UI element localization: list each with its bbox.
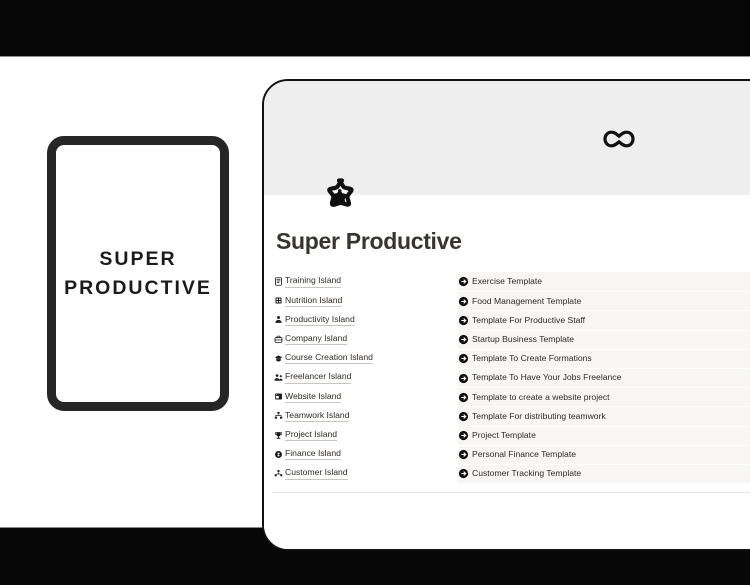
list-item[interactable]: Personal Finance Template	[458, 445, 750, 464]
list-item-label: Exercise Template	[472, 276, 542, 287]
arrow-circle-icon	[458, 315, 469, 326]
arrow-circle-icon	[458, 373, 469, 384]
list-item-label: Template For Productive Staff	[472, 315, 585, 326]
list-item[interactable]: Freelancer Island	[272, 368, 458, 387]
list-item-label: Project Template	[472, 430, 536, 441]
briefcase-icon	[272, 335, 285, 344]
list-item-label: Website Island	[285, 391, 341, 403]
list-item[interactable]: Company Island	[272, 330, 458, 349]
list-item[interactable]: Template For distributing teamwork	[458, 406, 750, 425]
list-item-label: Project Island	[285, 429, 337, 441]
islands-column: Training Island Nutrition Island Product…	[272, 272, 458, 483]
infinity-icon	[602, 128, 636, 150]
list-item[interactable]: Exercise Template	[458, 272, 750, 291]
list-item-label: Customer Island	[285, 467, 348, 479]
window-icon	[272, 392, 285, 401]
list-item[interactable]: Food Management Template	[458, 291, 750, 310]
customer-icon	[272, 469, 285, 478]
list-item[interactable]: Template To Have Your Jobs Freelance	[458, 368, 750, 387]
list-item[interactable]: Project Island	[272, 426, 458, 445]
list-item-label: Finance Island	[285, 448, 341, 460]
arrow-circle-icon	[458, 449, 469, 460]
device-frame: Super Productive Training Island Nutriti…	[262, 79, 750, 551]
graduation-icon	[272, 354, 285, 363]
list-item[interactable]: Teamwork Island	[272, 406, 458, 425]
app-body: Super Productive Training Island Nutriti…	[264, 195, 750, 551]
list-bottom-divider	[272, 492, 750, 493]
templates-column: Exercise Template Food Management Templa…	[458, 272, 750, 483]
person-icon	[272, 315, 285, 324]
list-item[interactable]: Customer Island	[272, 464, 458, 483]
letterbox-bar-top	[0, 0, 750, 57]
list-item-label: Personal Finance Template	[472, 449, 576, 460]
network-icon	[272, 411, 285, 420]
list-item[interactable]: Productivity Island	[272, 310, 458, 329]
list-item[interactable]: Startup Business Template	[458, 330, 750, 349]
list-item-label: Template To Create Formations	[472, 353, 592, 364]
list-item[interactable]: Training Island	[272, 272, 458, 291]
list-item-label: Template To Have Your Jobs Freelance	[472, 372, 621, 383]
list-item[interactable]: Nutrition Island	[272, 291, 458, 310]
arrow-circle-icon	[458, 468, 469, 479]
list-item[interactable]: Course Creation Island	[272, 349, 458, 368]
list-item-label: Template For distributing teamwork	[472, 411, 606, 422]
list-item-label: Nutrition Island	[285, 295, 342, 307]
clipboard-icon	[272, 277, 285, 286]
list-item-label: Productivity Island	[285, 314, 355, 326]
product-card-title: SUPER PRODUCTIVE	[64, 245, 212, 302]
page-title: Super Productive	[276, 228, 462, 255]
nutrition-icon	[272, 296, 285, 305]
arrow-circle-icon	[458, 334, 469, 345]
list-item[interactable]: Website Island	[272, 387, 458, 406]
trophy-icon	[272, 431, 285, 440]
list-item-label: Template to create a website project	[472, 392, 610, 403]
list-item[interactable]: Template To Create Formations	[458, 349, 750, 368]
list-item[interactable]: Project Template	[458, 426, 750, 445]
island-template-columns: Training Island Nutrition Island Product…	[272, 272, 750, 483]
list-item[interactable]: Finance Island	[272, 445, 458, 464]
coin-icon	[272, 450, 285, 459]
list-item-label: Freelancer Island	[285, 371, 351, 383]
star-icon	[316, 172, 362, 218]
arrow-circle-icon	[458, 353, 469, 364]
arrow-circle-icon	[458, 430, 469, 441]
list-item-label: Startup Business Template	[472, 334, 574, 345]
list-item-label: Training Island	[285, 275, 341, 287]
arrow-circle-icon	[458, 411, 469, 422]
list-item-label: Teamwork Island	[285, 410, 349, 422]
list-item-label: Course Creation Island	[285, 352, 373, 364]
list-item[interactable]: Template to create a website project	[458, 387, 750, 406]
list-item-label: Company Island	[285, 333, 347, 345]
list-item[interactable]: Template For Productive Staff	[458, 310, 750, 329]
arrow-circle-icon	[458, 296, 469, 307]
list-item[interactable]: Customer Tracking Template	[458, 464, 750, 483]
list-item-label: Customer Tracking Template	[472, 468, 581, 479]
arrow-circle-icon	[458, 392, 469, 403]
list-item-label: Food Management Template	[472, 296, 581, 307]
freelancer-icon	[272, 373, 285, 382]
arrow-circle-icon	[458, 276, 469, 287]
product-card: SUPER PRODUCTIVE	[47, 136, 229, 411]
